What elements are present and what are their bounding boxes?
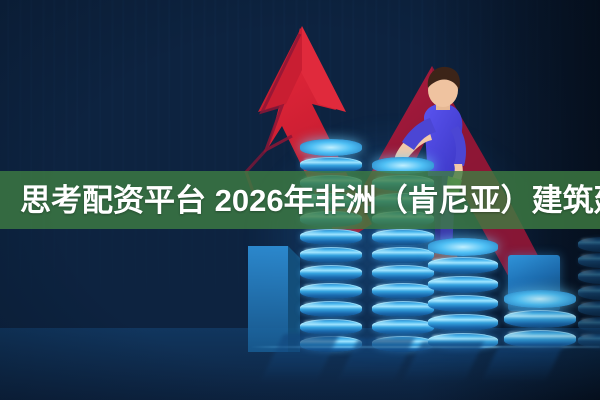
banner-title-text: 思考配资平台 2026年非洲（肯尼亚）建筑建材展 [0,185,600,216]
banner-image: 思考配资平台 2026年非洲（肯尼亚）建筑建材展 [0,0,600,400]
title-banner: 思考配资平台 2026年非洲（肯尼亚）建筑建材展 [0,171,600,229]
